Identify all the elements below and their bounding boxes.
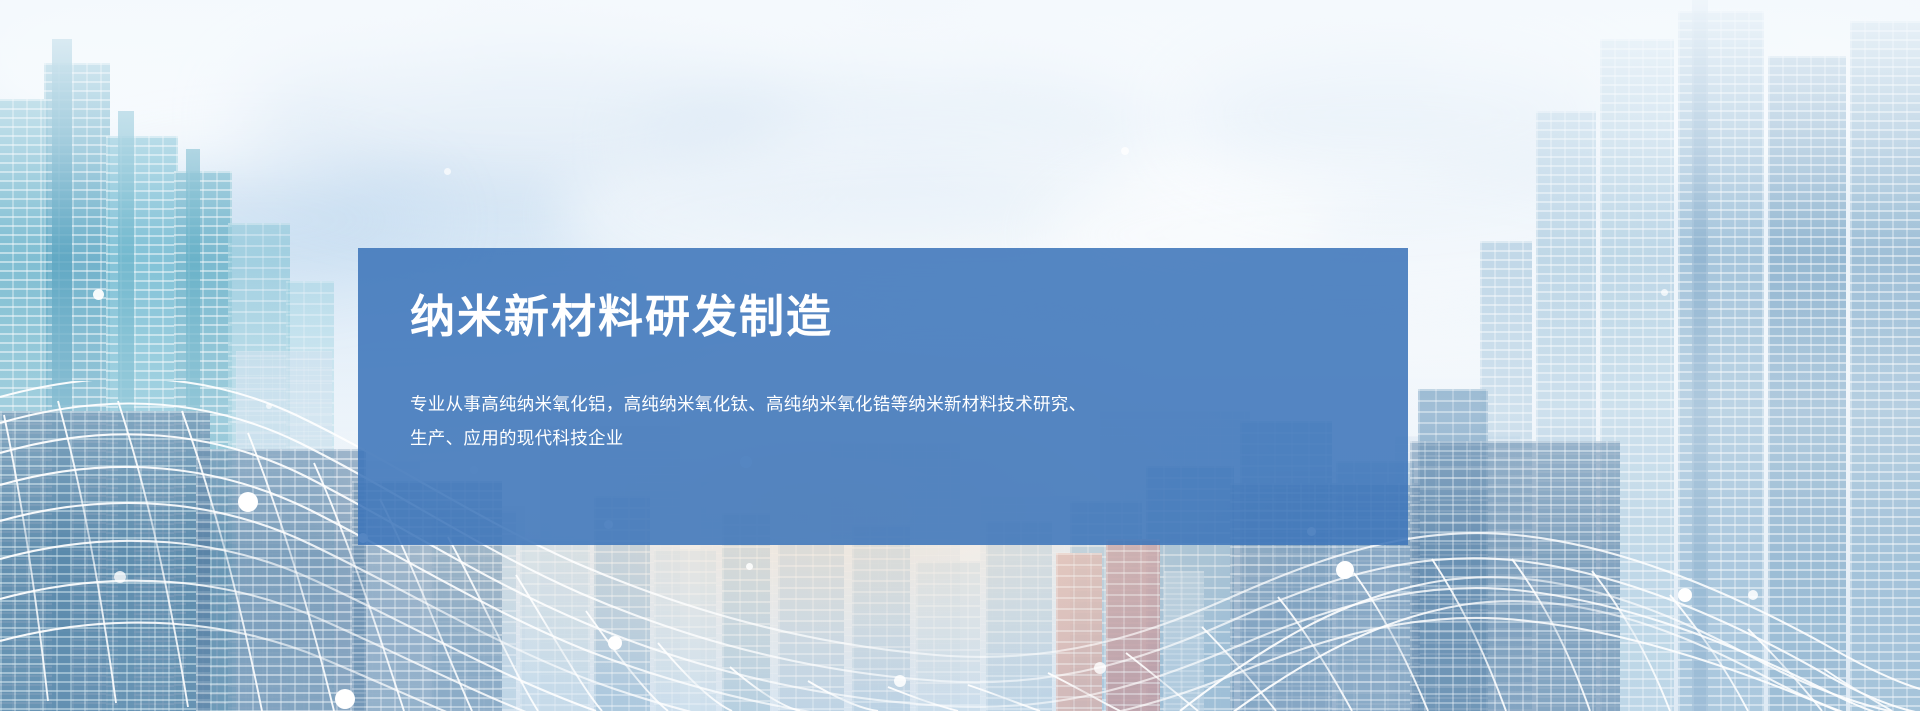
- hero-subtitle-line-1: 专业从事高纯纳米氧化铝，高纯纳米氧化钛、高纯纳米氧化锆等纳米新材料技术研究、: [410, 387, 1200, 421]
- page-title: 纳米新材料研发制造: [410, 290, 1408, 343]
- hero-subtitle: 专业从事高纯纳米氧化铝，高纯纳米氧化钛、高纯纳米氧化锆等纳米新材料技术研究、 生…: [410, 387, 1200, 455]
- hero-banner: 纳米新材料研发制造 专业从事高纯纳米氧化铝，高纯纳米氧化钛、高纯纳米氧化锆等纳米…: [0, 0, 1920, 711]
- hero-subtitle-line-2: 生产、应用的现代科技企业: [410, 421, 1200, 455]
- hero-text-panel: 纳米新材料研发制造 专业从事高纯纳米氧化铝，高纯纳米氧化钛、高纯纳米氧化锆等纳米…: [358, 248, 1408, 545]
